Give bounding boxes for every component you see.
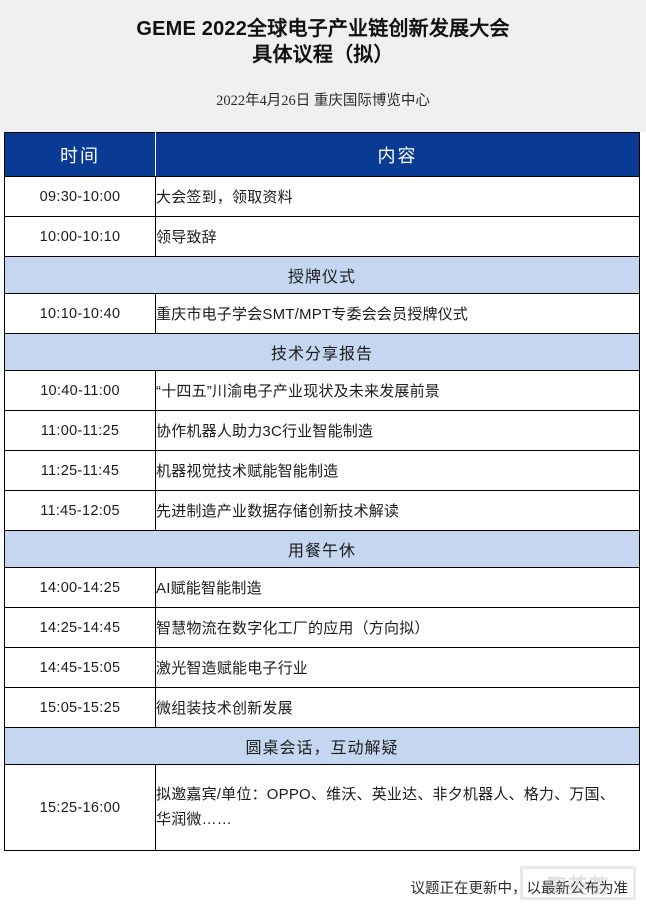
row-time: 11:00-11:25 (5, 411, 156, 451)
row-content: 拟邀嘉宾/单位：OPPO、维沃、英业达、非夕机器人、格力、万国、华润微…… (156, 765, 640, 851)
header-banner: GEME 2022全球电子产业链创新发展大会 具体议程（拟） 2022年4月26… (0, 0, 646, 132)
table-row: 11:00-11:25协作机器人助力3C行业智能制造 (5, 411, 640, 451)
title-line-2: 具体议程（拟） (136, 42, 509, 68)
column-header-content: 内容 (156, 133, 640, 177)
table-row: 10:40-11:00“十四五”川渝电子产业现状及未来发展前景 (5, 371, 640, 411)
table-section-row: 授牌仪式 (5, 257, 640, 294)
section-label: 授牌仪式 (5, 257, 640, 294)
row-time: 10:00-10:10 (5, 217, 156, 257)
section-label: 圆桌会话，互动解疑 (5, 728, 640, 765)
column-header-time: 时间 (5, 133, 156, 177)
row-content: 机器视觉技术赋能智能制造 (156, 451, 640, 491)
table-row: 11:45-12:05先进制造产业数据存储创新技术解读 (5, 491, 640, 531)
row-content: 重庆市电子学会SMT/MPT专委会会员授牌仪式 (156, 294, 640, 334)
agenda-table-body: 09:30-10:00大会签到，领取资料10:00-10:10领导致辞授牌仪式1… (5, 177, 640, 851)
table-section-row: 用餐午休 (5, 531, 640, 568)
table-header-row: 时间 内容 (5, 133, 640, 177)
section-label: 用餐午休 (5, 531, 640, 568)
row-time: 09:30-10:00 (5, 177, 156, 217)
row-time: 10:40-11:00 (5, 371, 156, 411)
table-row: 14:25-14:45智慧物流在数字化工厂的应用（方向拟） (5, 608, 640, 648)
row-content: 智慧物流在数字化工厂的应用（方向拟） (156, 608, 640, 648)
row-content: 协作机器人助力3C行业智能制造 (156, 411, 640, 451)
table-row: 14:00-14:25AI赋能智能制造 (5, 568, 640, 608)
event-date-venue: 2022年4月26日 重庆国际博览中心 (216, 89, 430, 110)
table-row: 14:45-15:05激光智造赋能电子行业 (5, 648, 640, 688)
page-title: GEME 2022全球电子产业链创新发展大会 具体议程（拟） (136, 16, 509, 69)
table-section-row: 圆桌会话，互动解疑 (5, 728, 640, 765)
row-time: 14:25-14:45 (5, 608, 156, 648)
row-time: 15:05-15:25 (5, 688, 156, 728)
agenda-page: GEME 2022全球电子产业链创新发展大会 具体议程（拟） 2022年4月26… (0, 0, 646, 914)
table-row: 15:05-15:25微组装技术创新发展 (5, 688, 640, 728)
agenda-table: 时间 内容 09:30-10:00大会签到，领取资料10:00-10:10领导致… (4, 132, 640, 851)
row-time: 14:45-15:05 (5, 648, 156, 688)
row-content: 激光智造赋能电子行业 (156, 648, 640, 688)
title-line-1: GEME 2022全球电子产业链创新发展大会 (136, 16, 509, 42)
table-row: 15:25-16:00拟邀嘉宾/单位：OPPO、维沃、英业达、非夕机器人、格力、… (5, 765, 640, 851)
table-section-row: 技术分享报告 (5, 334, 640, 371)
row-time: 14:00-14:25 (5, 568, 156, 608)
row-time: 10:10-10:40 (5, 294, 156, 334)
table-row: 09:30-10:00大会签到，领取资料 (5, 177, 640, 217)
row-content: 微组装技术创新发展 (156, 688, 640, 728)
row-time: 15:25-16:00 (5, 765, 156, 851)
table-row: 10:10-10:40重庆市电子学会SMT/MPT专委会会员授牌仪式 (5, 294, 640, 334)
footer-note: 议题正在更新中，以最新公布为准 (411, 877, 629, 898)
row-content: 领导致辞 (156, 217, 640, 257)
table-row: 11:25-11:45机器视觉技术赋能智能制造 (5, 451, 640, 491)
table-row: 10:00-10:10领导致辞 (5, 217, 640, 257)
row-content: 先进制造产业数据存储创新技术解读 (156, 491, 640, 531)
row-content: 大会签到，领取资料 (156, 177, 640, 217)
row-time: 11:45-12:05 (5, 491, 156, 531)
row-content: AI赋能智能制造 (156, 568, 640, 608)
row-content: “十四五”川渝电子产业现状及未来发展前景 (156, 371, 640, 411)
row-time: 11:25-11:45 (5, 451, 156, 491)
section-label: 技术分享报告 (5, 334, 640, 371)
